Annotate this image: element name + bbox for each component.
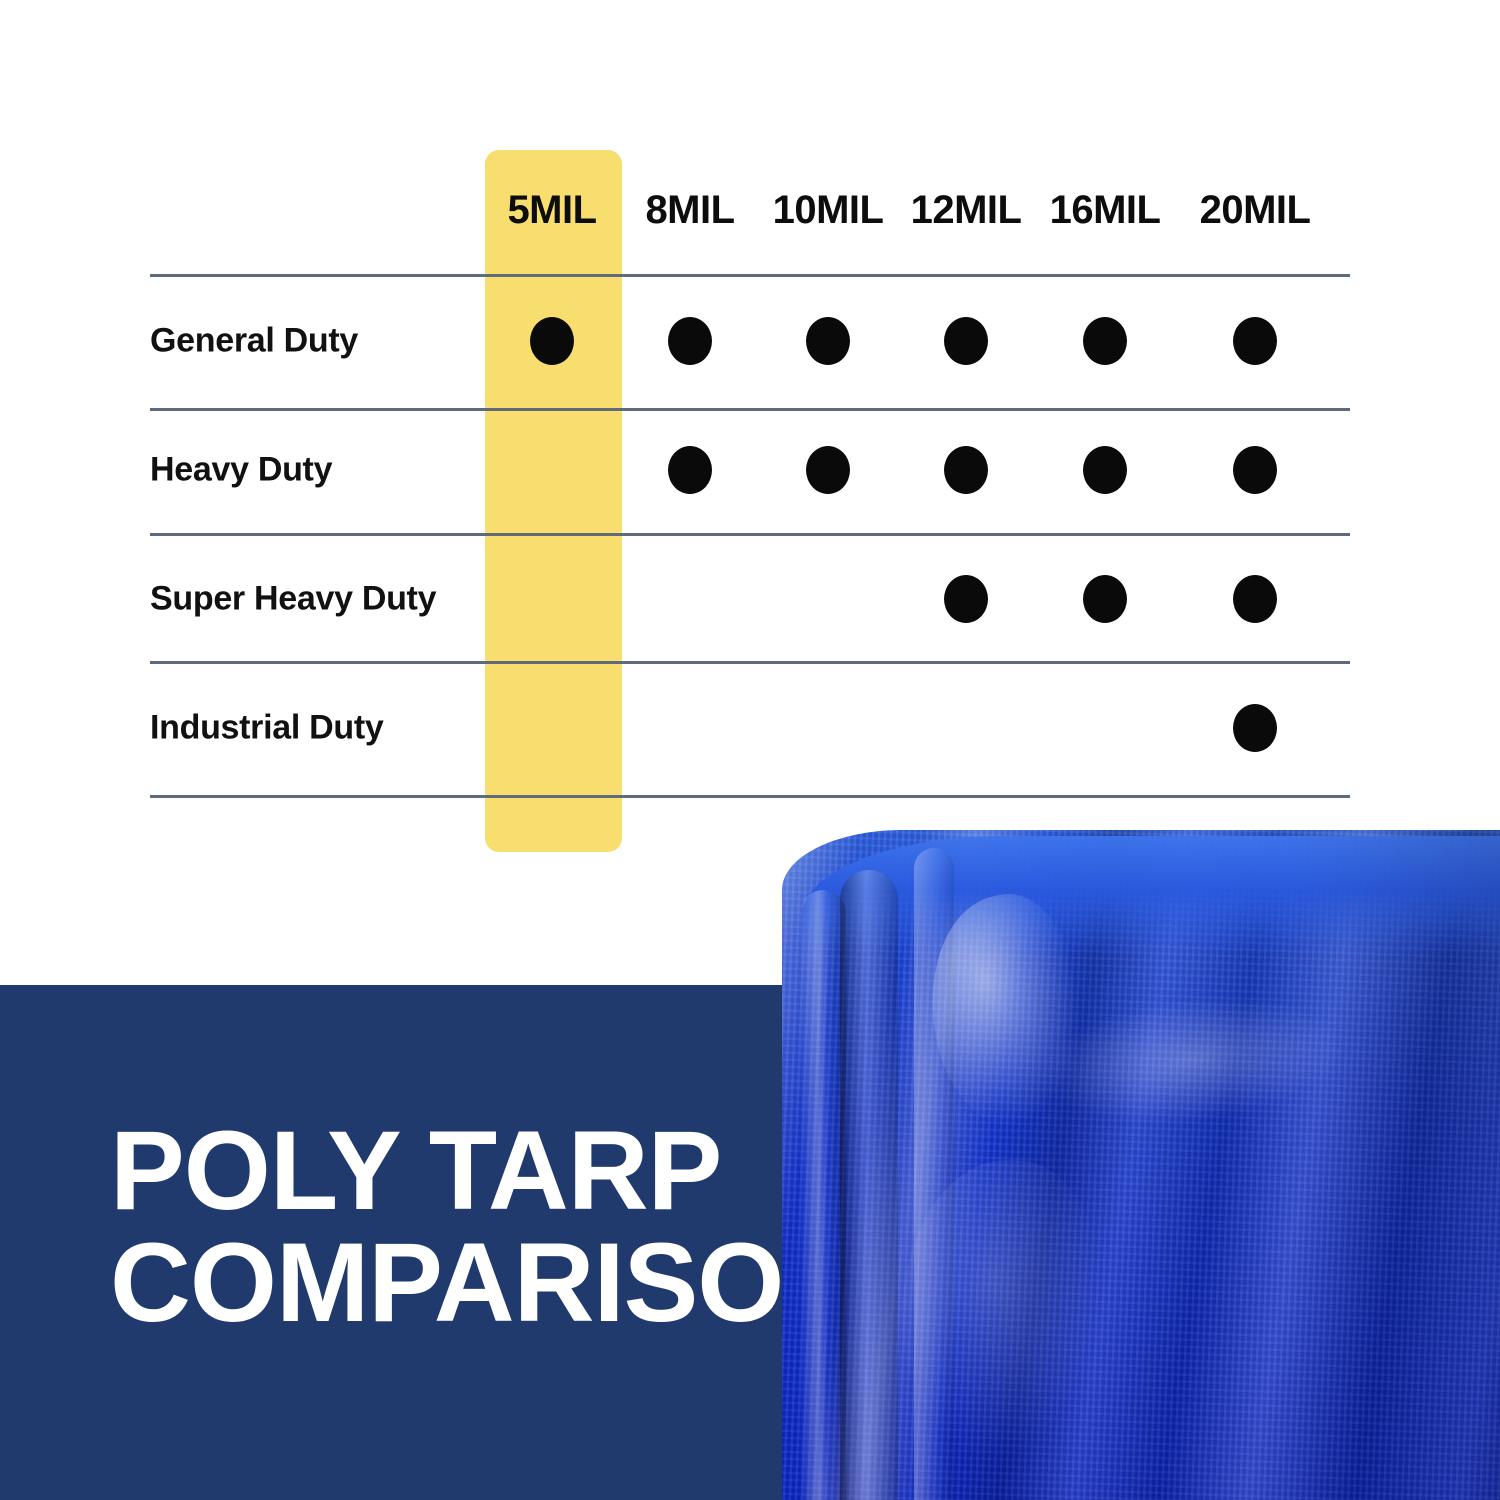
- availability-dot: [530, 317, 574, 365]
- availability-dot: [1233, 575, 1277, 623]
- row-label-industrial-duty: Industrial Duty: [150, 709, 384, 748]
- row-label-super-heavy-duty: Super Heavy Duty: [150, 580, 436, 619]
- availability-dot: [806, 446, 850, 494]
- availability-dot: [668, 446, 712, 494]
- availability-dot: [1233, 704, 1277, 752]
- availability-dot: [944, 575, 988, 623]
- tarp-right-shading: [1282, 830, 1500, 1500]
- tarp-body: [782, 830, 1500, 1500]
- row-label-heavy-duty: Heavy Duty: [150, 451, 332, 490]
- availability-dot: [1233, 446, 1277, 494]
- availability-dot: [1083, 317, 1127, 365]
- blue-tarp-image: [760, 806, 1500, 1500]
- poly-tarp-comparison-infographic: 5MIL8MIL10MIL12MIL16MIL20MIL General Dut…: [0, 0, 1500, 1500]
- availability-dot: [1083, 446, 1127, 494]
- tarp-fold-mid: [840, 870, 898, 1500]
- availability-dot: [944, 446, 988, 494]
- availability-dot: [944, 317, 988, 365]
- row-label-general-duty: General Duty: [150, 322, 358, 361]
- availability-dot: [1083, 575, 1127, 623]
- tarp-gloss-highlight-3: [902, 1160, 1102, 1460]
- availability-dot: [1233, 317, 1277, 365]
- availability-dot: [668, 317, 712, 365]
- availability-dot: [806, 317, 850, 365]
